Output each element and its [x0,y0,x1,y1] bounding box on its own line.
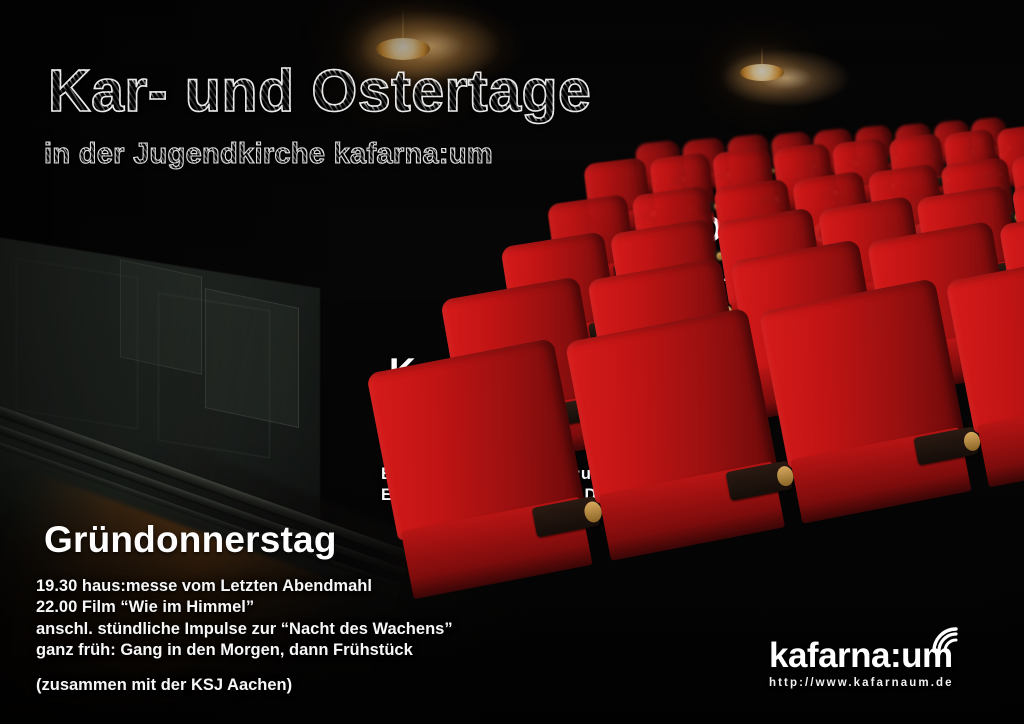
poster-canvas: Kar- und Ostertage in der Jugendkirche k… [0,0,1024,724]
page-subtitle: in der Jugendkirche kafarna:um [44,140,493,169]
kafarnaum-logo[interactable]: kafarna:um http://www.kafarnaum.de [769,638,954,689]
day-heading: Gründonnerstag [36,516,351,567]
day-details: 19.30 haus:messe vom Letzten Abendmahl22… [36,576,453,696]
detail-line: 19.30 haus:messe vom Letzten Abendmahl [36,576,453,597]
line-gap [36,662,453,675]
detail-line: (zusammen mit der KSJ Aachen) [36,675,453,696]
detail-line: ganz früh: Gang in den Morgen, dann Früh… [36,640,453,661]
page-title: Kar- und Ostertage [48,62,591,121]
logo-wordmark: kafarna:um [769,638,954,673]
logo-url: http://www.kafarnaum.de [769,677,954,689]
detail-line: 22.00 Film “Wie im Himmel” [36,597,453,618]
wifi-signal-icon [930,625,960,655]
event-block-gruendonnerstag: Gründonnerstag 19.30 haus:messe vom Letz… [36,516,453,696]
detail-line: anschl. stündliche Impulse zur “Nacht de… [36,619,453,640]
